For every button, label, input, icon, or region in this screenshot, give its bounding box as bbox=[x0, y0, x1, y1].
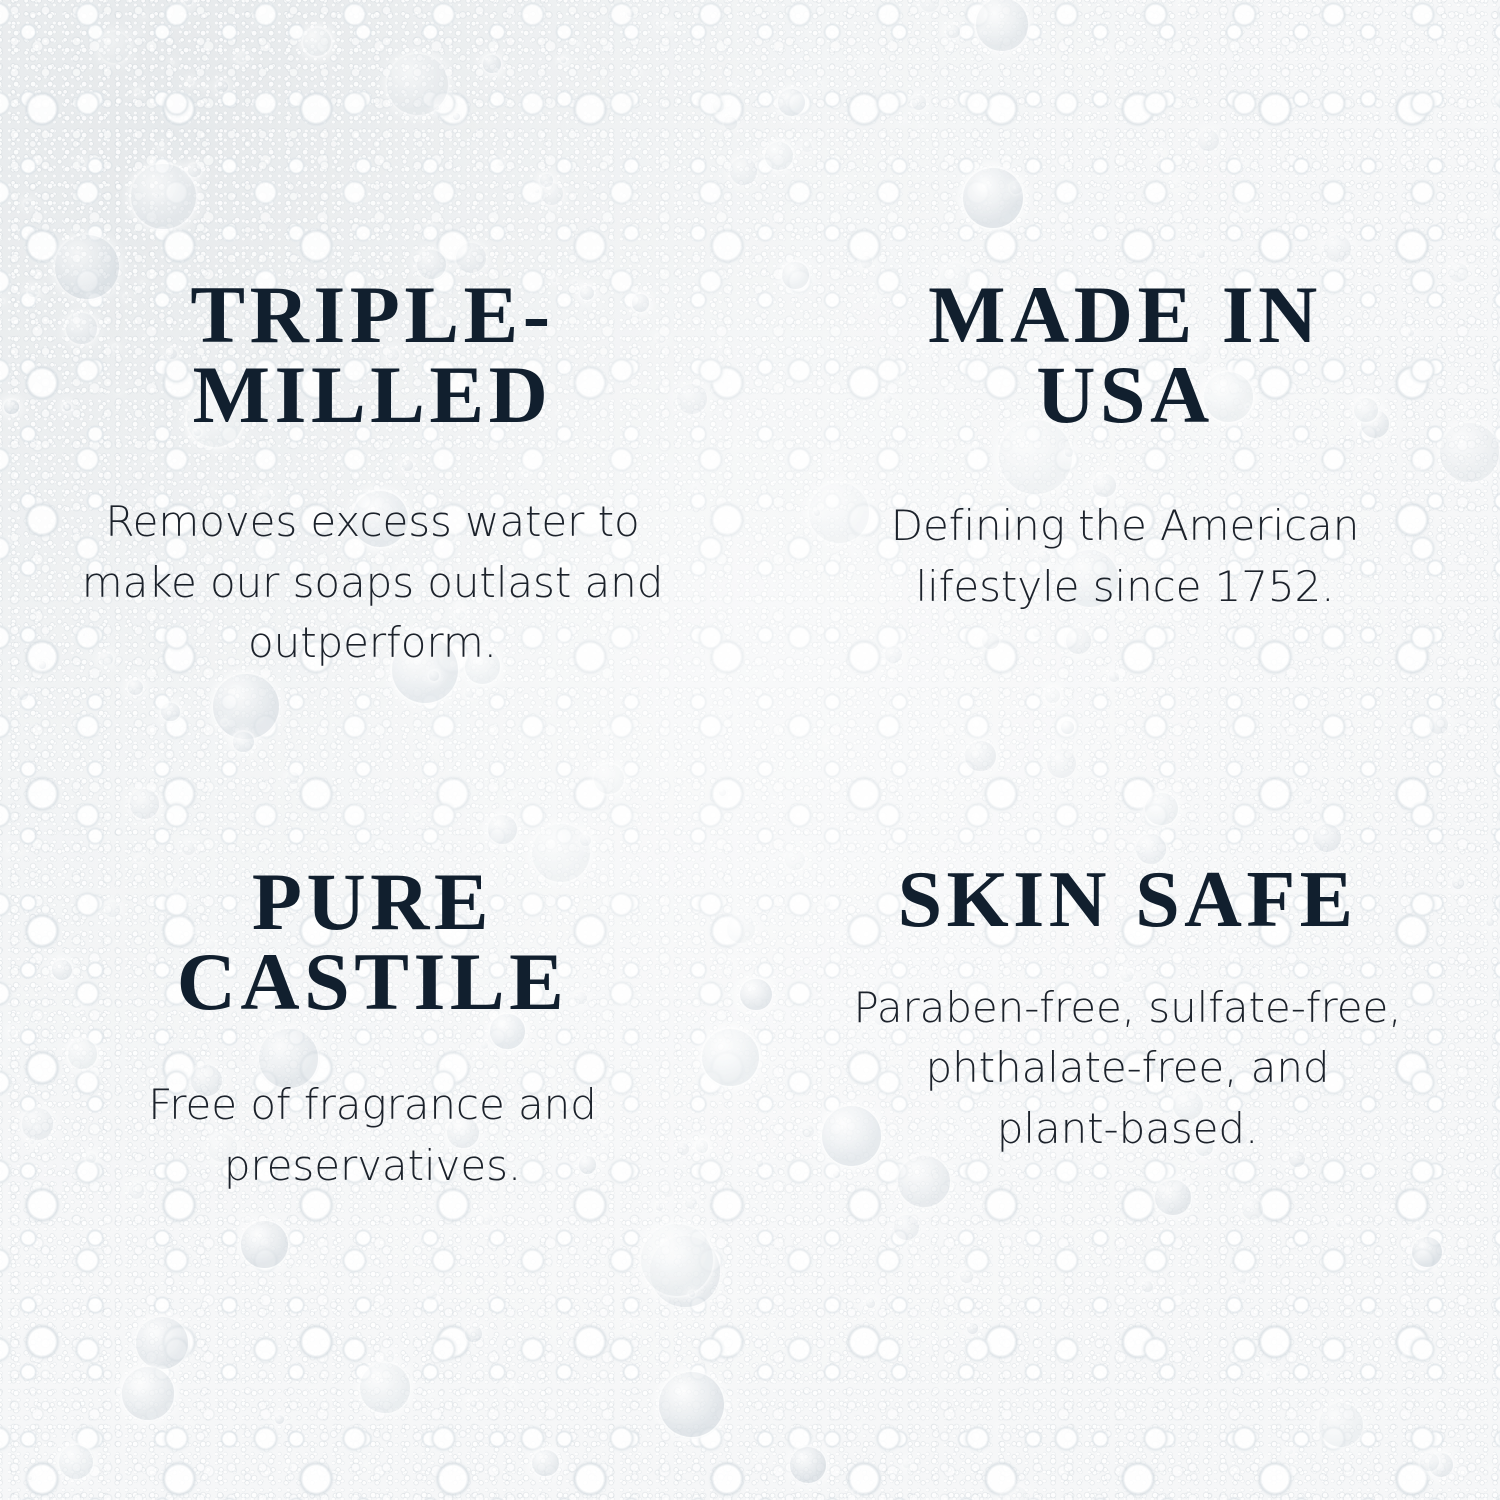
panel-headline-skin-safe: SKIN SAFE bbox=[898, 862, 1358, 940]
panel-skin-safe: SKIN SAFE Paraben-free, sulfate-free, ph… bbox=[750, 750, 1500, 1500]
panel-pure-castile: PURE CASTILE Free of fragrance and prese… bbox=[0, 750, 750, 1500]
benefits-infographic: TRIPLE- MILLED Removes excess water to m… bbox=[0, 0, 1500, 1500]
panel-body-skin-safe: Paraben-free, sulfate-free, phthalate-fr… bbox=[853, 978, 1401, 1159]
panel-triple-milled: TRIPLE- MILLED Removes excess water to m… bbox=[0, 0, 750, 750]
panel-headline-triple-milled: TRIPLE- MILLED bbox=[190, 275, 554, 434]
panel-made-in-usa: MADE IN USA Defining the American lifest… bbox=[750, 0, 1500, 750]
panel-headline-pure-castile: PURE CASTILE bbox=[177, 862, 569, 1021]
panel-body-pure-castile: Free of fragrance and preservatives. bbox=[148, 1075, 596, 1196]
panel-body-made-in-usa: Defining the American lifestyle since 17… bbox=[891, 496, 1359, 617]
benefits-grid: TRIPLE- MILLED Removes excess water to m… bbox=[0, 0, 1500, 1500]
panel-headline-made-in-usa: MADE IN USA bbox=[928, 275, 1322, 434]
panel-body-triple-milled: Removes excess water to make our soaps o… bbox=[82, 492, 664, 673]
